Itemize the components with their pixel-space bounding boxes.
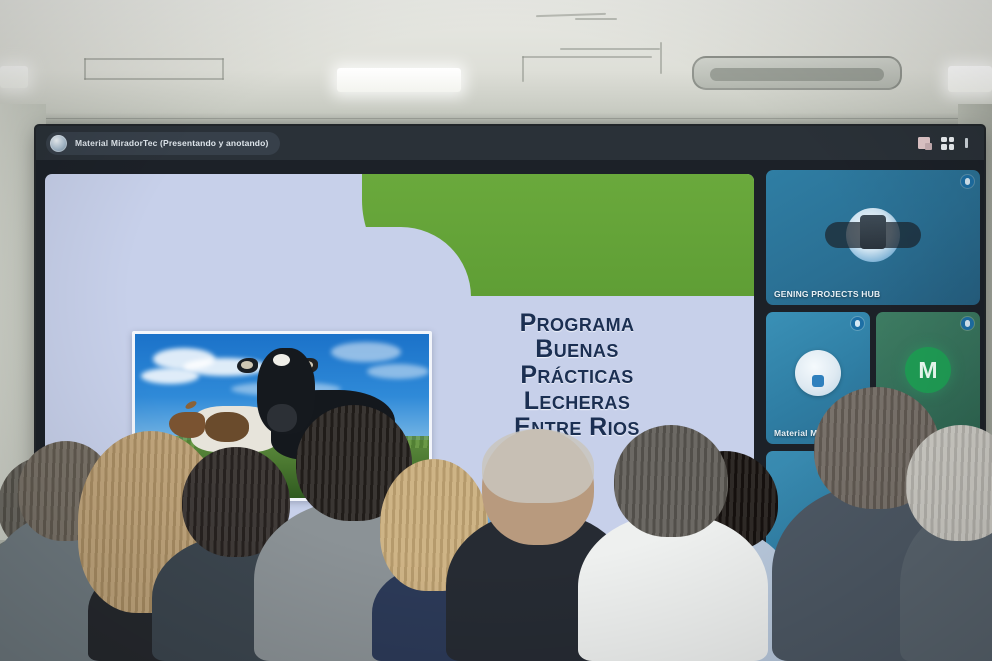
more-options-icon[interactable] <box>965 138 968 148</box>
avatar-initial: M <box>905 347 951 393</box>
slide-title-line-2: Buenas <box>437 336 717 362</box>
meeting-topbar: Material MiradorTec (Presentando y anota… <box>36 126 984 160</box>
document-share-icon[interactable] <box>918 137 930 149</box>
presenter-avatar-icon <box>50 135 67 152</box>
ceiling <box>0 0 992 128</box>
conference-room: Material MiradorTec (Presentando y anota… <box>0 0 992 661</box>
ceiling-light-panel-left <box>0 66 28 88</box>
mic-muted-icon <box>961 175 974 188</box>
ceiling-light-panel <box>337 68 461 92</box>
tile-logo-core <box>860 215 886 249</box>
mic-muted-icon <box>851 317 864 330</box>
topbar-actions <box>918 137 974 150</box>
avatar <box>795 350 841 396</box>
presenter-status-pill[interactable]: Material MiradorTec (Presentando y anota… <box>46 132 280 155</box>
slide-title-line-3: Prácticas <box>437 362 717 388</box>
mic-muted-icon <box>961 317 974 330</box>
audience <box>0 390 992 661</box>
slide-green-accent-shape <box>362 174 754 296</box>
participant-tile-gening-projects-hub[interactable]: GENING PROJECTS HUB <box>766 170 980 305</box>
tile-label: GENING PROJECTS HUB <box>774 289 880 299</box>
layout-grid-icon[interactable] <box>941 137 954 150</box>
ceiling-ac-vent <box>692 56 902 90</box>
ceiling-light-panel-right <box>948 66 992 92</box>
presenter-label: Material MiradorTec (Presentando y anota… <box>75 138 268 148</box>
slide-title-line-1: Programa <box>437 310 717 336</box>
